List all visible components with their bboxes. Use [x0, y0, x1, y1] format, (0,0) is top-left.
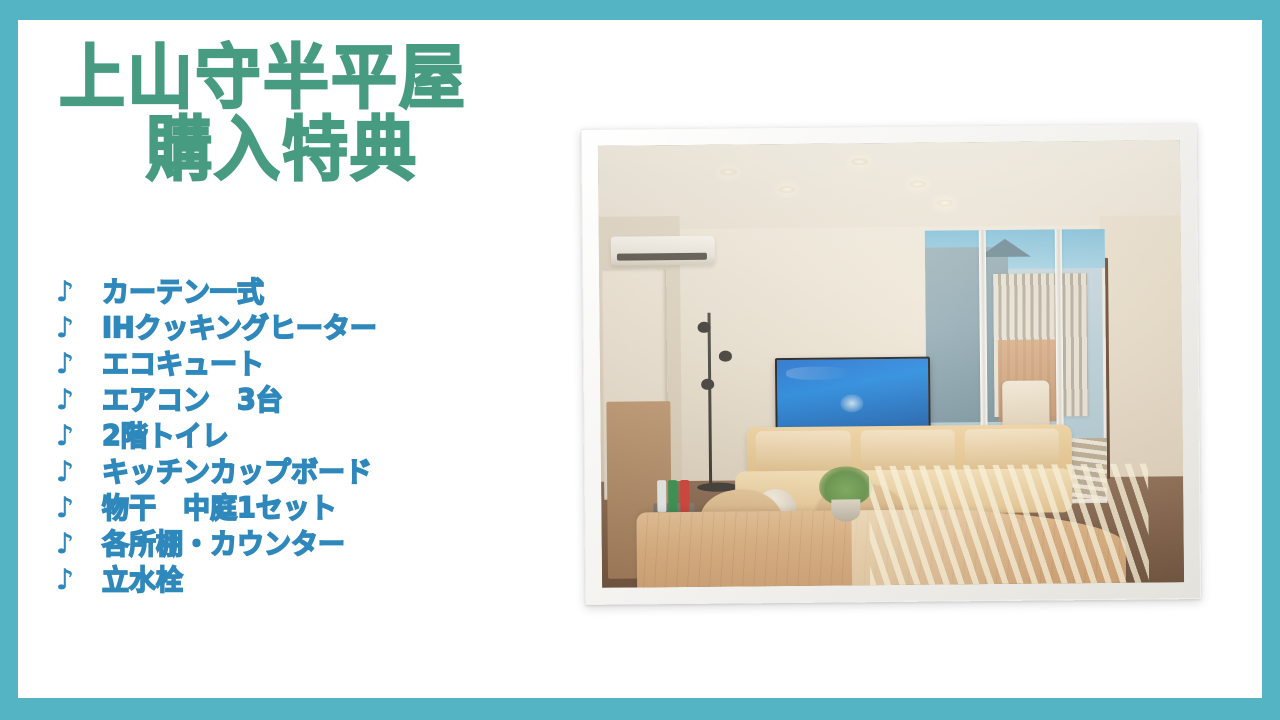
list-item: ♪ 物干 中庭1セット: [52, 494, 532, 530]
benefit-label: キッチンカップボード: [102, 458, 372, 486]
list-item: ♪ 2階トイレ: [52, 422, 532, 458]
plant-pot: [831, 499, 860, 521]
downlight-icon: [910, 180, 927, 187]
photo-image: [598, 140, 1184, 588]
slide-canvas: 上山守半平屋 購入特典 ♪ カーテン一式 ♪ IHクッキングヒーター ♪ エコキ…: [0, 0, 1280, 720]
photo-frame: [581, 123, 1202, 605]
benefit-label: 2階トイレ: [102, 422, 229, 450]
caddy-item: [668, 481, 677, 513]
music-note-icon: ♪: [52, 494, 102, 522]
interior-photo: [581, 123, 1202, 605]
benefit-label: エコキュート: [102, 350, 264, 378]
page-title: 上山守半平屋 購入特典: [40, 42, 510, 182]
border-top: [0, 0, 1280, 20]
living-room-scene: [598, 140, 1184, 588]
list-item: ♪ エコキュート: [52, 350, 532, 386]
lamp-head-icon: [701, 379, 714, 390]
title-line-1: 上山守半平屋: [16, 42, 510, 113]
caddy-item: [657, 481, 666, 513]
music-note-icon: ♪: [52, 386, 102, 414]
ac-vent: [617, 253, 707, 260]
benefit-label: IHクッキングヒーター: [102, 314, 377, 342]
neighbor-roof: [979, 238, 1031, 256]
title-line-2: 購入特典: [54, 114, 510, 185]
air-conditioner: [610, 235, 715, 265]
list-item: ♪ 立水栓: [52, 566, 532, 602]
benefit-label: カーテン一式: [102, 278, 264, 306]
music-note-icon: ♪: [52, 314, 102, 342]
border-bottom: [0, 698, 1280, 720]
list-item: ♪ 各所棚・カウンター: [52, 530, 532, 566]
list-item: ♪ エアコン 3台: [52, 386, 532, 422]
benefit-label: エアコン 3台: [102, 386, 283, 414]
tv-content: [840, 394, 863, 412]
caddy-item: [680, 480, 689, 512]
left-content-column: 上山守半平屋 購入特典 ♪ カーテン一式 ♪ IHクッキングヒーター ♪ エコキ…: [40, 42, 540, 652]
music-note-icon: ♪: [52, 566, 102, 594]
benefit-label: 物干 中庭1セット: [102, 494, 337, 522]
benefit-label: 立水栓: [102, 566, 183, 594]
ceiling: [598, 140, 1181, 238]
list-item: ♪ IHクッキングヒーター: [52, 314, 532, 350]
lamp-head-icon: [697, 322, 710, 333]
lamp-head-icon: [719, 350, 732, 361]
table-sunlight: [851, 508, 1047, 587]
tv-glare: [786, 366, 850, 380]
benefit-label: 各所棚・カウンター: [102, 530, 345, 558]
music-note-icon: ♪: [52, 422, 102, 450]
right-wall-panel: [1099, 215, 1183, 507]
music-note-icon: ♪: [52, 458, 102, 486]
dining-table: [636, 508, 1126, 588]
benefits-list: ♪ カーテン一式 ♪ IHクッキングヒーター ♪ エコキュート ♪ エアコン 3…: [52, 278, 532, 602]
music-note-icon: ♪: [52, 278, 102, 306]
music-note-icon: ♪: [52, 530, 102, 558]
list-item: ♪ カーテン一式: [52, 278, 532, 314]
list-item: ♪ キッチンカップボード: [52, 458, 532, 494]
music-note-icon: ♪: [52, 350, 102, 378]
border-right: [1262, 0, 1280, 720]
